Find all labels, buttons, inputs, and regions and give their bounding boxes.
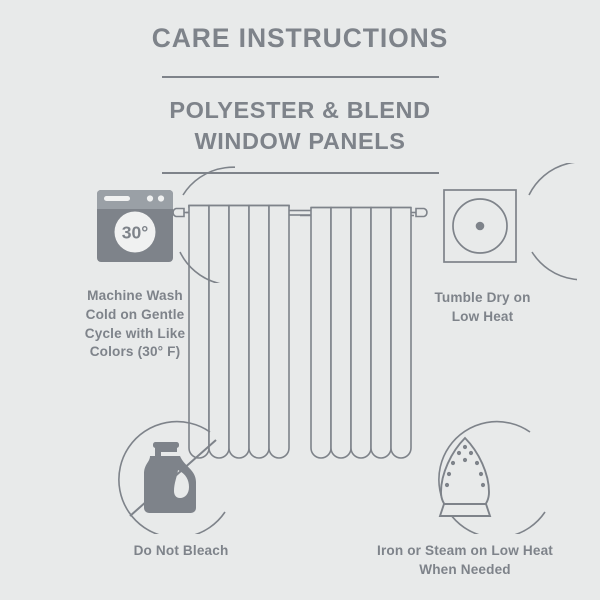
- iron-badge: [340, 412, 590, 534]
- caption-line: Do Not Bleach: [92, 542, 270, 561]
- caption-line: Iron or Steam on Low Heat: [340, 542, 590, 561]
- instruction-do-not-bleach: Do Not Bleach: [92, 412, 270, 561]
- instruction-machine-wash: 30° Machine Wash Cold on Gentle Cycle wi…: [35, 163, 235, 362]
- tumble-dry-caption: Tumble Dry on Low Heat: [388, 289, 577, 327]
- iron-caption: Iron or Steam on Low Heat When Needed: [340, 542, 590, 580]
- caption-line: Machine Wash: [35, 287, 235, 306]
- care-instructions-infographic: CARE INSTRUCTIONS POLYESTER & BLEND WIND…: [0, 0, 600, 600]
- do-not-bleach-badge: [92, 412, 270, 534]
- caption-line: Colors (30° F): [35, 343, 235, 362]
- wash-temperature-label: 30°: [122, 223, 148, 243]
- instruction-tumble-dry: Tumble Dry on Low Heat: [382, 163, 577, 327]
- machine-wash-caption: Machine Wash Cold on Gentle Cycle with L…: [35, 287, 235, 362]
- do-not-bleach-caption: Do Not Bleach: [92, 542, 270, 561]
- caption-line: Low Heat: [388, 308, 577, 327]
- caption-line: Tumble Dry on: [388, 289, 577, 308]
- tumble-dry-badge: [382, 163, 577, 283]
- bleach-bottle-icon: [144, 442, 196, 513]
- caption-line: Cycle with Like: [35, 325, 235, 344]
- instruction-iron: Iron or Steam on Low Heat When Needed: [340, 412, 590, 580]
- caption-line: Cold on Gentle: [35, 306, 235, 325]
- caption-line: When Needed: [340, 561, 590, 580]
- dry-heat-dot: [476, 222, 485, 231]
- machine-wash-badge: 30°: [35, 163, 235, 283]
